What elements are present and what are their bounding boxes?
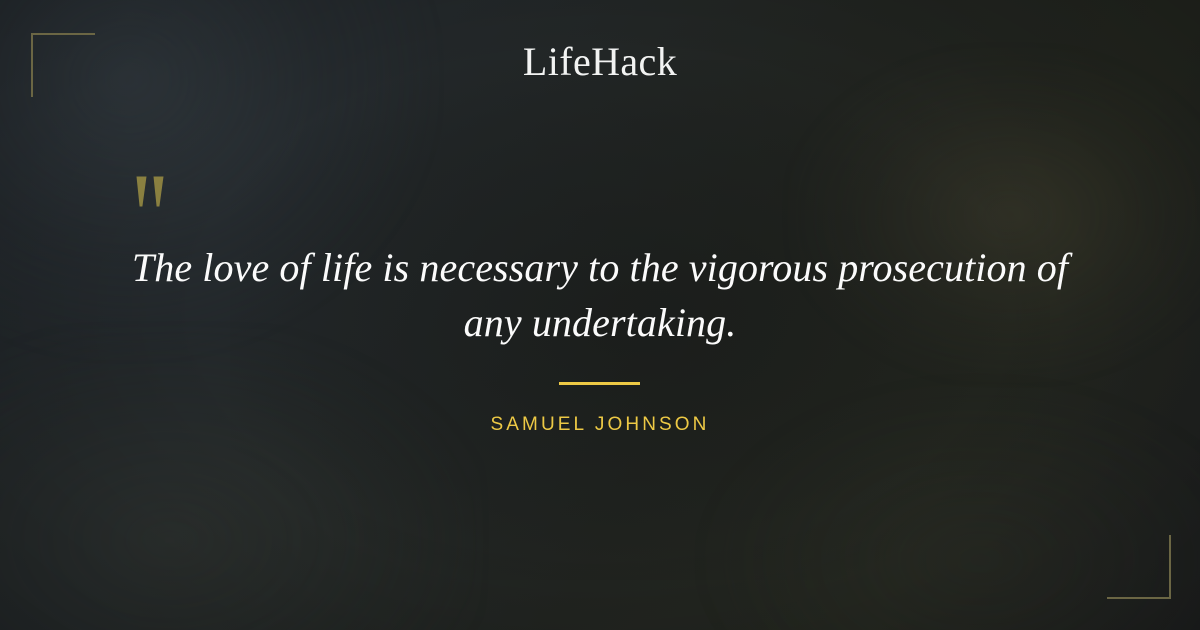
brand-logo: LifeHack <box>0 40 1200 84</box>
quote-text: The love of life is necessary to the vig… <box>100 240 1100 350</box>
quote-card: LifeHack The love of life is necessary t… <box>0 0 1200 630</box>
closing-double-quote-icon <box>134 176 168 212</box>
corner-bracket-bottom-right-icon <box>1107 535 1171 599</box>
quote-author: SAMUEL JOHNSON <box>100 413 1100 437</box>
quote-line-2: any undertaking. <box>464 300 737 345</box>
gold-divider <box>559 382 640 385</box>
quote-line-1: The love of life is necessary to the vig… <box>132 245 1068 290</box>
